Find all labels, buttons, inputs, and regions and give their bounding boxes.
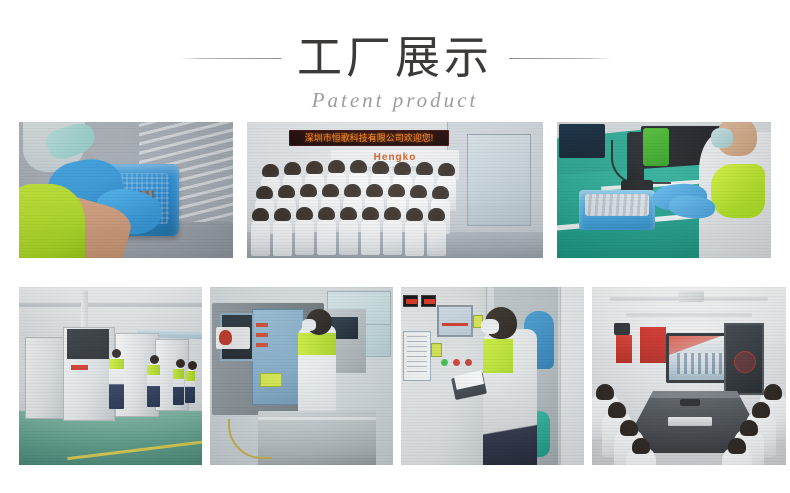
photo-packing-station[interactable]	[19, 122, 233, 258]
decorative-rule-left-icon	[179, 58, 281, 59]
face-mask	[302, 319, 316, 331]
attendees-right	[734, 371, 786, 465]
indicator-lights	[71, 365, 88, 370]
title-row: 工厂展示	[0, 30, 790, 86]
machine-button-3	[256, 343, 268, 347]
blue-component-tray	[579, 190, 655, 230]
gallery-row-1: Hengko 深圳市恒歌科技有限公司 深圳市恒歌科技有限公司欢迎您!	[19, 122, 771, 258]
factory-showcase-page: 工厂展示 Patent product Hengko 深圳市恒歌科	[0, 0, 790, 493]
ceiling-light-strip-2	[626, 313, 752, 317]
photo-conference-meeting[interactable]	[592, 287, 786, 465]
conference-microphone	[680, 399, 700, 406]
warning-label-1	[431, 343, 442, 357]
hi-vis-sleeve	[711, 164, 765, 218]
status-lamp-red-2	[465, 359, 472, 366]
page-title: 工厂展示	[291, 33, 499, 83]
machine-button-1	[256, 323, 268, 327]
adjacent-cabinet	[560, 287, 584, 465]
photo-production-line[interactable]	[19, 287, 202, 465]
hmi-touchscreen	[437, 305, 473, 337]
status-lamp-red	[453, 359, 460, 366]
photo-process-control[interactable]	[401, 287, 584, 465]
face-mask	[481, 319, 499, 334]
digital-meter-1	[403, 295, 418, 307]
hi-vis-vest	[19, 184, 85, 258]
warning-label	[260, 373, 282, 387]
wall-banner-red	[640, 327, 666, 363]
keyboard	[668, 417, 712, 426]
line-worker-2	[147, 363, 160, 407]
status-lamp-green	[441, 359, 448, 366]
photo-company-group[interactable]: Hengko 深圳市恒歌科技有限公司 深圳市恒歌科技有限公司欢迎您!	[247, 122, 543, 258]
photo-cnc-machining[interactable]	[210, 287, 393, 465]
face-mask	[711, 128, 733, 148]
line-worker-3	[173, 367, 184, 405]
digital-meter-2	[421, 295, 436, 307]
page-header: 工厂展示 Patent product	[0, 0, 790, 120]
line-worker-4	[185, 369, 195, 403]
wall-speaker	[614, 323, 630, 335]
ceiling-beam	[19, 303, 202, 307]
rear-monitor	[559, 124, 605, 158]
wall-banner-left	[616, 335, 632, 363]
photo-microscope-inspection[interactable]	[557, 122, 771, 258]
wall-emblem	[734, 351, 756, 373]
line-worker-1	[109, 357, 124, 409]
microscope-camera	[643, 128, 669, 166]
staff-group	[247, 122, 543, 258]
stainless-work-cart	[258, 411, 376, 465]
machine-cabinet-1	[25, 337, 67, 419]
page-subtitle: Patent product	[0, 88, 790, 113]
machine-brand-plate	[216, 327, 250, 349]
hi-vis-sleeve	[483, 339, 513, 373]
gallery-row-2	[19, 287, 771, 465]
ceiling-projector	[678, 291, 704, 302]
machine-control-panel	[67, 329, 109, 359]
machine-button-2	[256, 333, 268, 337]
process-document	[403, 331, 431, 381]
attendees-left	[592, 371, 644, 465]
decorative-rule-right-icon	[509, 58, 611, 59]
